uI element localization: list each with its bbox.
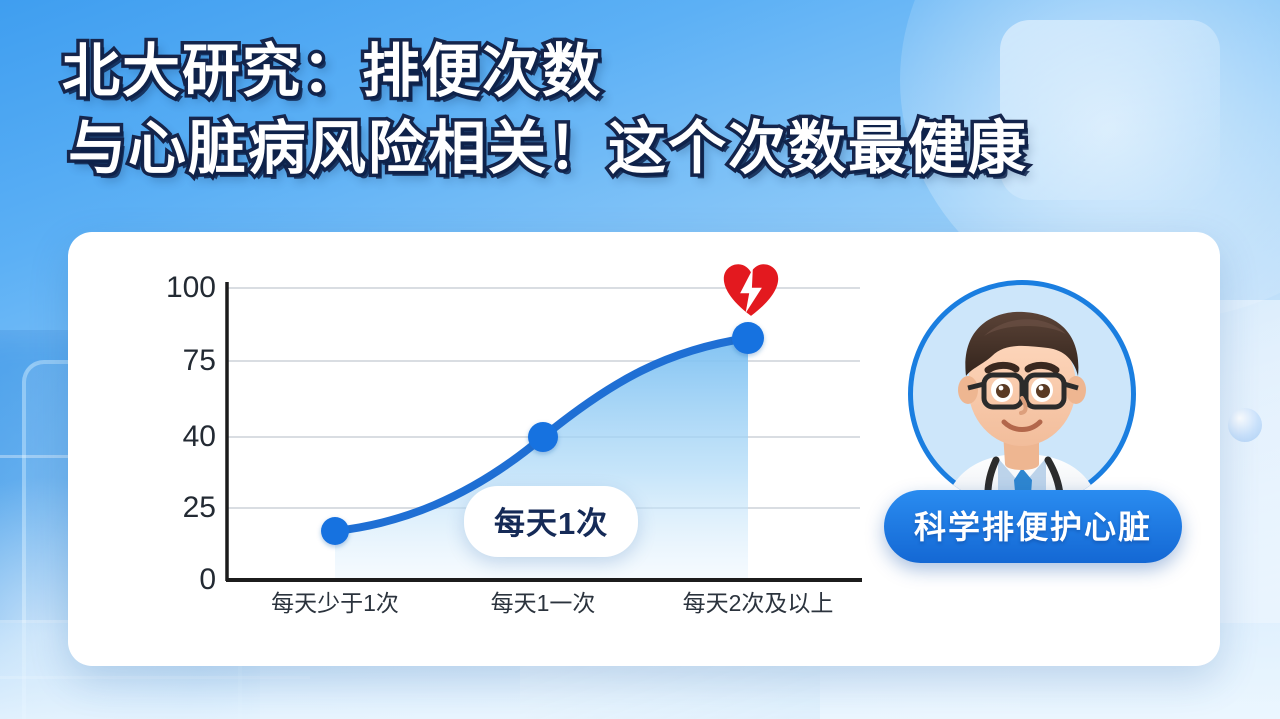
background-sphere-icon	[1228, 408, 1262, 442]
headline-line-2: 与心脏病风险相关！这个次数最健康	[62, 111, 1182, 188]
callout-badge: 每天1次	[464, 486, 638, 557]
doctor-ear-left	[958, 376, 978, 404]
line-chart: 100 75 40 25 0	[68, 232, 968, 666]
heart-lightning-icon	[722, 263, 780, 318]
data-point-2	[528, 422, 558, 452]
headline-line-1: 北大研究：排便次数	[62, 34, 1182, 111]
data-point-1	[321, 517, 349, 545]
headline: 北大研究：排便次数 与心脏病风险相关！这个次数最健康	[62, 34, 1182, 187]
slogan-badge: 科学排便护心脏	[884, 490, 1182, 563]
background-stripe-c	[0, 676, 310, 679]
x-tick-label-2: 每天1一次	[491, 584, 596, 618]
x-tick-label-3: 每天2次及以上	[683, 584, 834, 618]
data-point-3	[732, 322, 764, 354]
infographic-canvas: 北大研究：排便次数 与心脏病风险相关！这个次数最健康 100 75 40 25 …	[0, 0, 1280, 719]
x-tick-label-1: 每天少于1次	[271, 584, 399, 618]
